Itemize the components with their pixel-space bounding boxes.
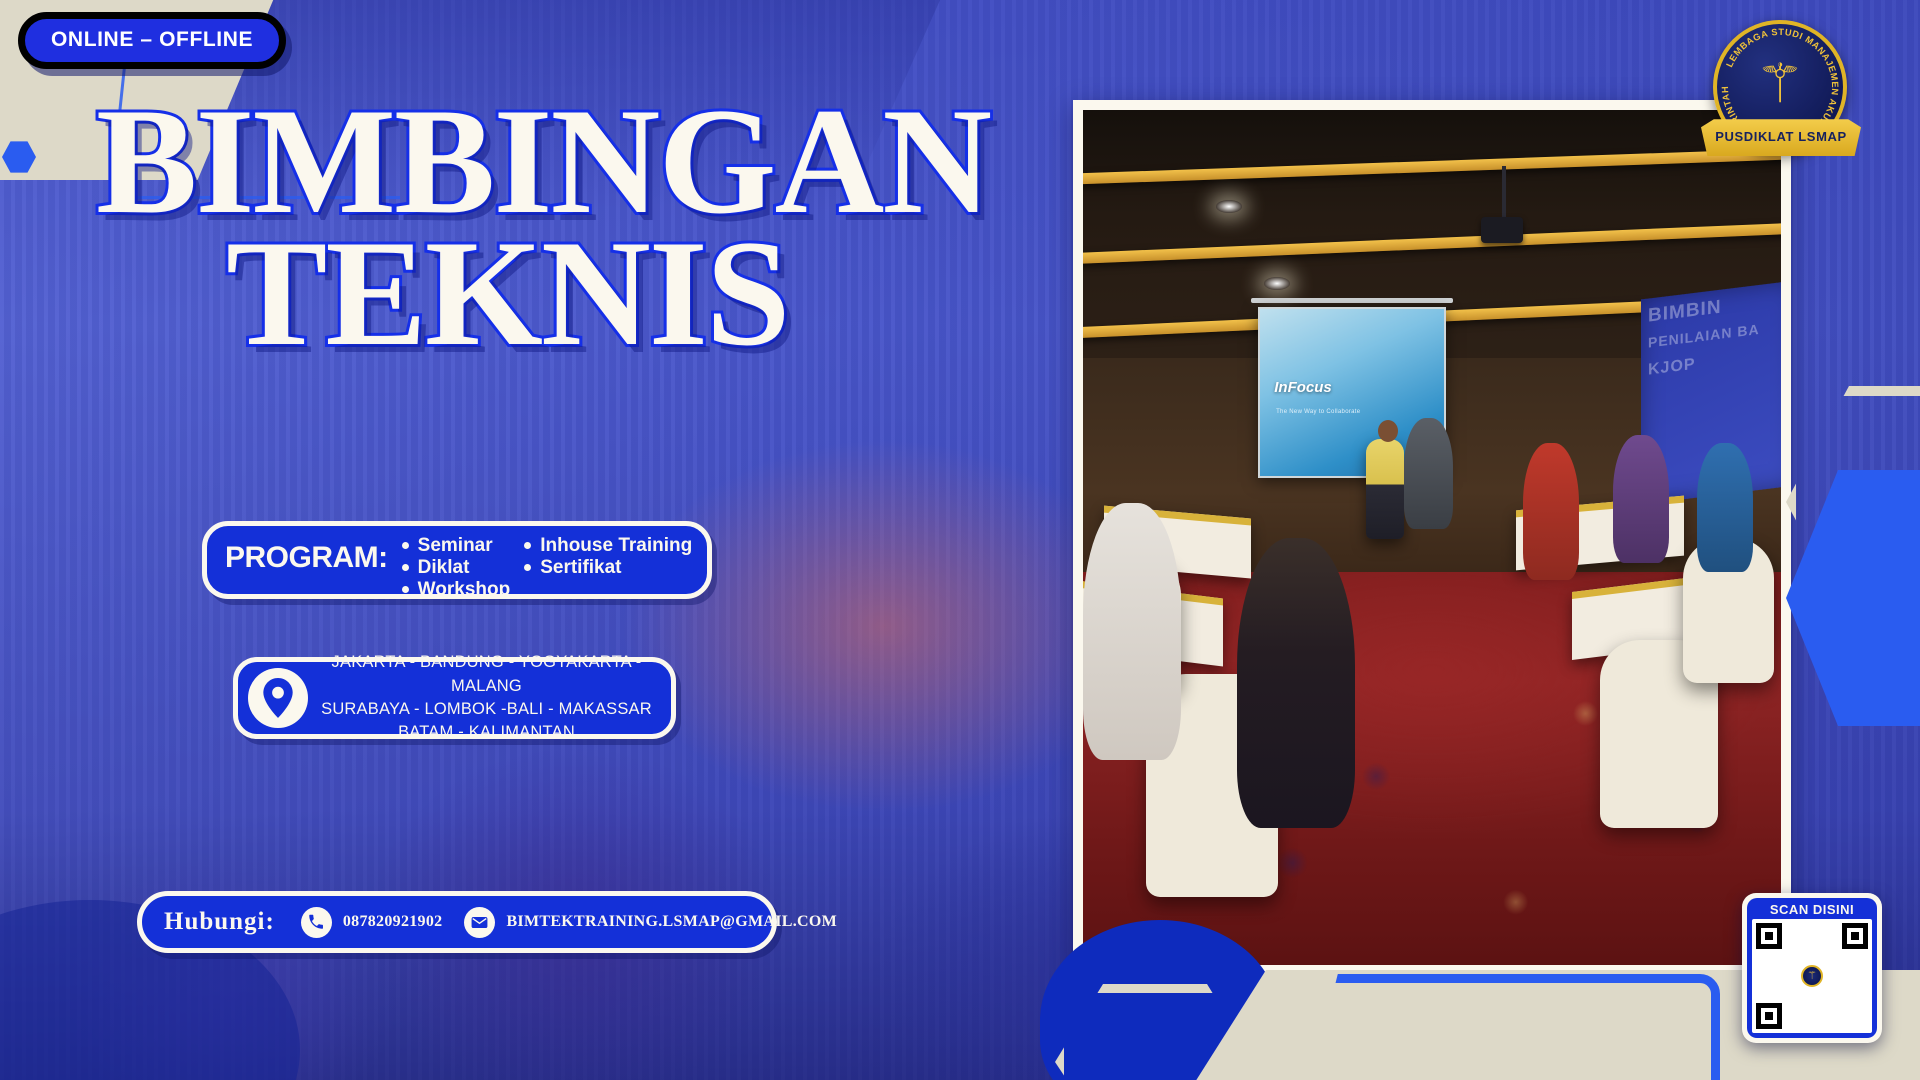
map-pin-icon — [248, 668, 308, 728]
event-photo: InFocus The New Way to Collaborate BIMBI… — [1073, 100, 1791, 975]
screen-roller — [1251, 298, 1453, 303]
program-item-label: Inhouse Training — [540, 536, 692, 556]
program-item-label: Diklat — [418, 558, 470, 578]
location-box: JAKARTA - BANDUNG - YOGYAKARTA - MALANG … — [233, 657, 676, 739]
bullet-icon — [402, 586, 409, 593]
screen-brand-label: InFocus — [1274, 379, 1332, 396]
program-column-1: Seminar Diklat Workshop — [402, 536, 511, 602]
bullet-icon — [524, 542, 531, 549]
ceiling-spotlight — [1264, 277, 1290, 290]
attendee — [1613, 435, 1669, 563]
attendee — [1083, 503, 1181, 760]
poster-root: ONLINE – OFFLINE BIMBINGAN TEKNIS PROGRA… — [0, 0, 1920, 1080]
program-item-label: Sertifikat — [540, 558, 621, 578]
email-address: BIMTEKTRAINING.LSMAP@GMAIL.COM — [506, 913, 837, 931]
qr-inner: SCAN DISINI ⚚ — [1747, 898, 1877, 1038]
attendee — [1404, 418, 1453, 529]
list-item: Seminar — [402, 536, 511, 556]
contact-label: Hubungi: — [164, 908, 275, 936]
presenter-figure — [1366, 439, 1404, 539]
contact-bar: Hubungi: 087820921902 BIMTEKTRAINING.LSM… — [137, 891, 777, 953]
lsmap-logo-icon: ⚚ — [1801, 965, 1823, 987]
phone-contact[interactable]: 087820921902 — [301, 907, 443, 938]
city-list: JAKARTA - BANDUNG - YOGYAKARTA - MALANG … — [316, 651, 657, 745]
screen-tagline: The New Way to Collaborate — [1276, 409, 1360, 415]
bullet-icon — [524, 564, 531, 571]
ceiling-spotlight — [1216, 200, 1242, 213]
qr-code-image[interactable]: ⚚ — [1752, 919, 1872, 1033]
bullet-icon — [402, 542, 409, 549]
program-label: PROGRAM: — [225, 541, 388, 575]
program-column-2: Inhouse Training Sertifikat — [524, 536, 692, 602]
attendee — [1523, 443, 1579, 580]
organization-logo: ⚚ LEMBAGA STUDI MANAJEMEN AKUNTANSI DAN … — [1705, 18, 1855, 168]
phone-number: 087820921902 — [343, 913, 443, 931]
qr-finder-icon — [1842, 923, 1868, 949]
logo-ribbon: PUSDIKLAT LSMAP — [1701, 116, 1861, 156]
seminar-room-scene: InFocus The New Way to Collaborate BIMBI… — [1083, 110, 1781, 965]
list-item: Diklat — [402, 558, 511, 578]
list-item: Sertifikat — [524, 558, 692, 578]
attendee — [1237, 538, 1356, 829]
program-item-label: Seminar — [418, 536, 493, 556]
qr-title: SCAN DISINI — [1770, 902, 1854, 919]
list-item: Inhouse Training — [524, 536, 692, 556]
program-box: PROGRAM: Seminar Diklat Workshop — [202, 521, 712, 599]
city-line: BATAM - KALIMANTAN — [316, 721, 657, 744]
phone-icon — [301, 907, 332, 938]
attendee — [1697, 443, 1753, 571]
program-columns: Seminar Diklat Workshop Inhouse Training — [402, 536, 693, 602]
qr-code-card[interactable]: SCAN DISINI ⚚ — [1742, 893, 1882, 1043]
email-icon — [464, 907, 495, 938]
online-offline-badge[interactable]: ONLINE – OFFLINE — [18, 12, 286, 69]
presenter-head — [1378, 420, 1398, 442]
city-line: JAKARTA - BANDUNG - YOGYAKARTA - MALANG — [316, 651, 657, 698]
bullet-icon — [402, 564, 409, 571]
page-title: BIMBINGAN TEKNIS — [96, 92, 1036, 364]
logo-ribbon-text: PUSDIKLAT LSMAP — [1715, 129, 1847, 144]
hexagon-outline-decor-bottom-blue — [1300, 974, 1720, 1080]
qr-finder-icon — [1756, 1003, 1782, 1029]
banner-line-3: KJOP — [1648, 343, 1781, 379]
list-item: Workshop — [402, 580, 511, 600]
program-item-label: Workshop — [418, 580, 511, 600]
email-contact[interactable]: BIMTEKTRAINING.LSMAP@GMAIL.COM — [464, 907, 837, 938]
city-line: SURABAYA - LOMBOK -BALI - MAKASSAR — [316, 698, 657, 721]
projector-icon — [1481, 217, 1523, 243]
qr-finder-icon — [1756, 923, 1782, 949]
